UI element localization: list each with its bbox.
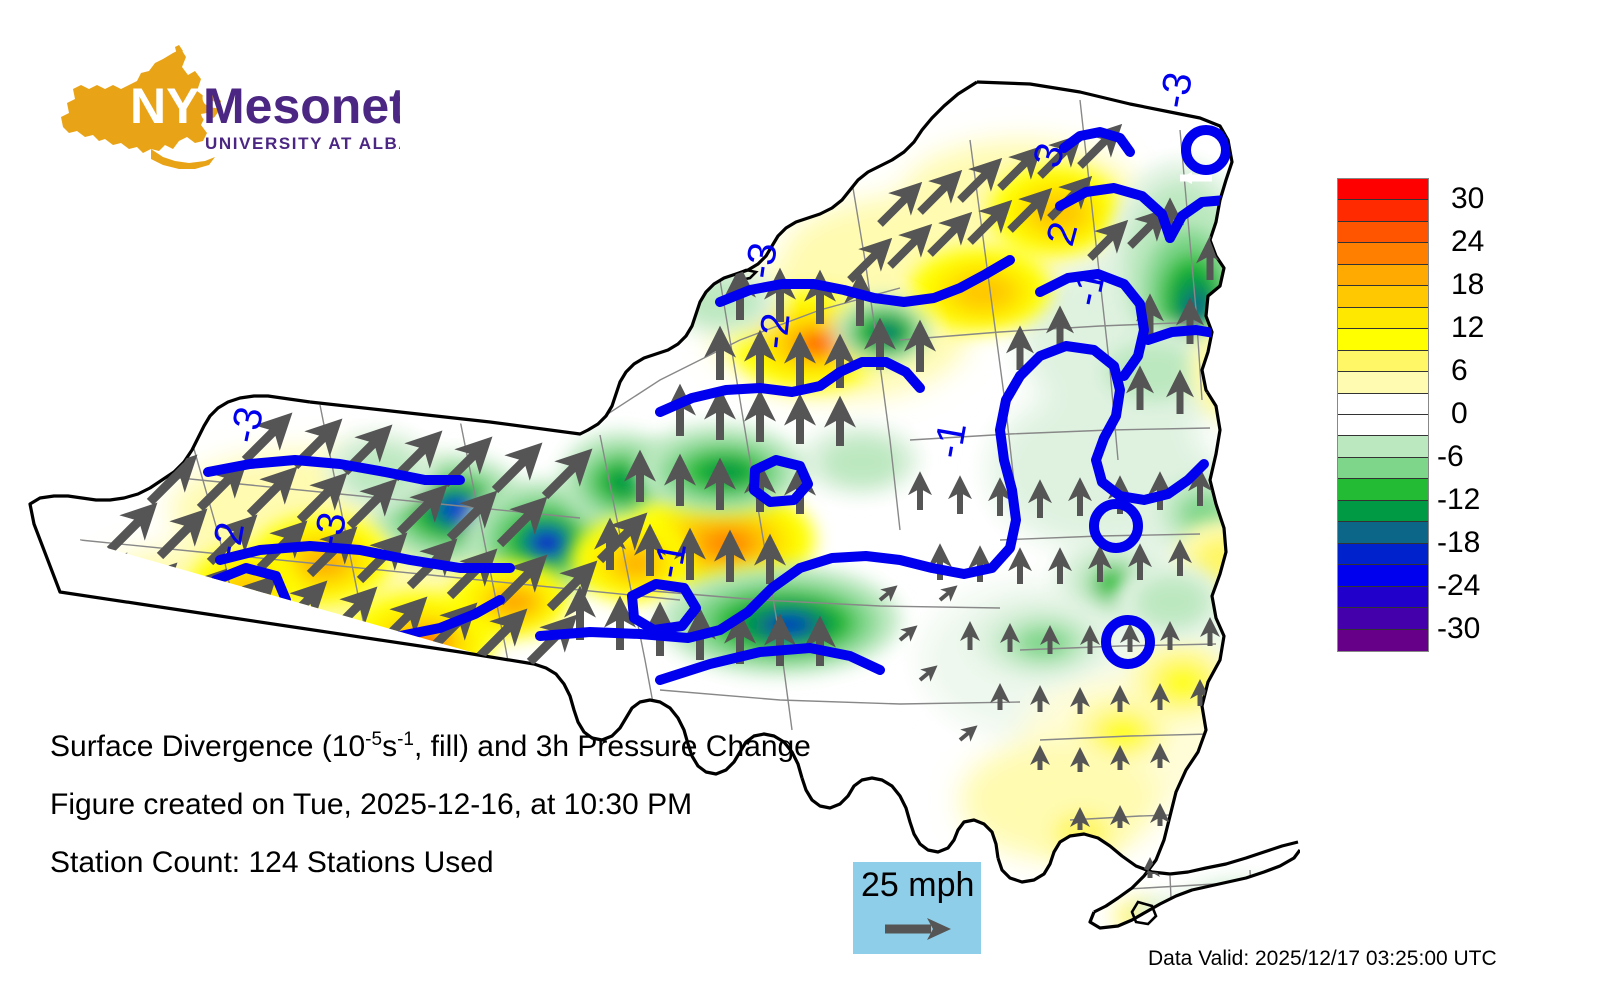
colorbar-band-7	[1338, 329, 1428, 350]
colorbar-band-3	[1338, 243, 1428, 264]
colorbar-band-9	[1338, 372, 1428, 393]
colorbar-tick--12: -12	[1437, 485, 1480, 515]
colorbar-band-0	[1338, 179, 1428, 200]
wind-scale-legend: 25 mph	[853, 862, 981, 954]
svg-text:-2: -2	[751, 311, 798, 351]
colorbar-band-1	[1338, 200, 1428, 221]
colorbar-band-18	[1338, 565, 1428, 586]
svg-text:-1: -1	[646, 539, 696, 582]
title-mid: s	[382, 730, 397, 763]
colorbar-band-6	[1338, 308, 1428, 329]
colorbar-tick-6: 6	[1451, 356, 1468, 386]
svg-text:-2: -2	[204, 519, 254, 562]
title-prefix: Surface Divergence (10	[50, 730, 365, 763]
colorbar-tick-30: 30	[1451, 184, 1484, 214]
colorbar-band-8	[1338, 351, 1428, 372]
figure-title: Surface Divergence (10-5s-1, fill) and 3…	[50, 718, 950, 776]
colorbar-band-15	[1338, 501, 1428, 522]
colorbar-tick-12: 12	[1451, 313, 1484, 343]
colorbar-band-12	[1338, 436, 1428, 457]
colorbar-band-10	[1338, 394, 1428, 415]
svg-text:-1: -1	[926, 419, 976, 462]
colorbar-ticks: 3024181260-6-12-18-24-30	[1437, 160, 1557, 670]
colorbar-tick--30: -30	[1437, 614, 1480, 644]
colorbar-tick--24: -24	[1437, 571, 1480, 601]
colorbar-tick--18: -18	[1437, 528, 1480, 558]
figure-canvas: NYS Mesonet UNIVERSITY AT ALBANY	[0, 0, 1600, 1000]
wind-scale-label: 25 mph	[861, 866, 974, 905]
colorbar-band-5	[1338, 286, 1428, 307]
data-valid-timestamp: Data Valid: 2025/12/17 03:25:00 UTC	[1148, 947, 1497, 971]
colorbar-band-2	[1338, 222, 1428, 243]
colorbar-tick--6: -6	[1437, 442, 1464, 472]
colorbar-band-17	[1338, 544, 1428, 565]
colorbar-band-20	[1338, 608, 1428, 629]
station-count-line: Station Count: 124 Stations Used	[50, 834, 950, 892]
title-exponent-1: -5	[365, 729, 382, 750]
colorbar-band-21	[1338, 630, 1428, 651]
colorbar-band-16	[1338, 522, 1428, 543]
caption-block: Surface Divergence (10-5s-1, fill) and 3…	[50, 718, 950, 892]
colorbar-band-14	[1338, 479, 1428, 500]
wind-reference-arrow-icon	[883, 914, 953, 944]
figure-created-line: Figure created on Tue, 2025-12-16, at 10…	[50, 776, 950, 834]
colorbar-band-19	[1338, 587, 1428, 608]
colorbar-band-11	[1338, 415, 1428, 436]
colorbar-band-13	[1338, 458, 1428, 479]
colorbar	[1337, 178, 1429, 652]
svg-text:-3: -3	[306, 509, 356, 552]
svg-text:-3: -3	[1152, 69, 1202, 112]
colorbar-tick-0: 0	[1451, 399, 1468, 429]
colorbar-band-4	[1338, 265, 1428, 286]
title-suffix: , fill) and 3h Pressure Change	[414, 730, 811, 763]
svg-text:-3: -3	[737, 240, 786, 281]
colorbar-tick-24: 24	[1451, 227, 1484, 257]
colorbar-tick-18: 18	[1451, 270, 1484, 300]
title-exponent-2: -1	[397, 729, 414, 750]
